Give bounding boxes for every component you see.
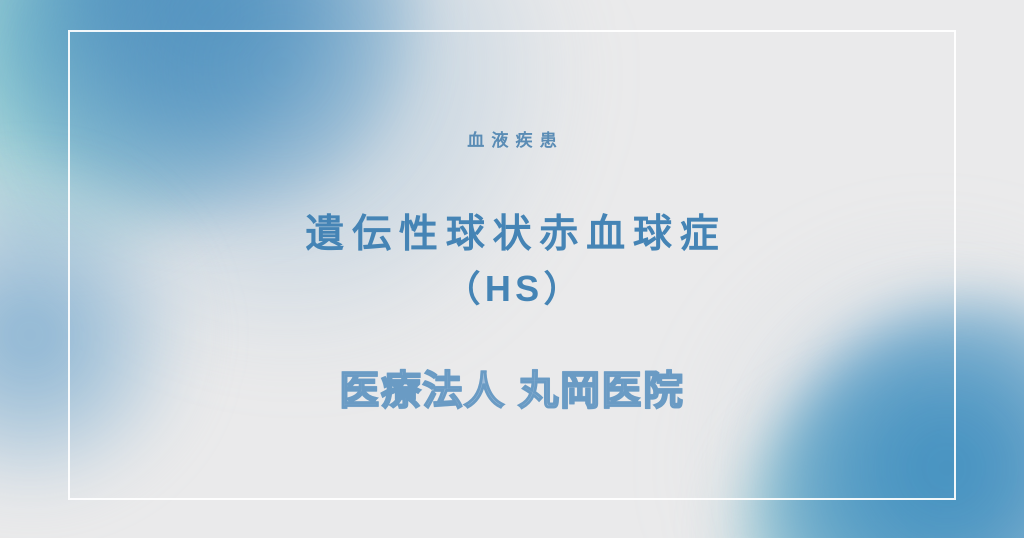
title-abbreviation-line: （HS） (0, 264, 1024, 314)
title-slide: 血液疾患 遺伝性球状赤血球症 （HS） 医療法人 丸岡医院 (0, 0, 1024, 538)
category-label: 血液疾患 (0, 131, 1024, 151)
title-primary-line: 遺伝性球状赤血球症 (0, 208, 1024, 262)
slide-content: 血液疾患 遺伝性球状赤血球症 （HS） 医療法人 丸岡医院 (0, 0, 1024, 538)
slide-title: 遺伝性球状赤血球症 （HS） (0, 208, 1024, 313)
organization-name: 医療法人 丸岡医院 (0, 367, 1024, 416)
